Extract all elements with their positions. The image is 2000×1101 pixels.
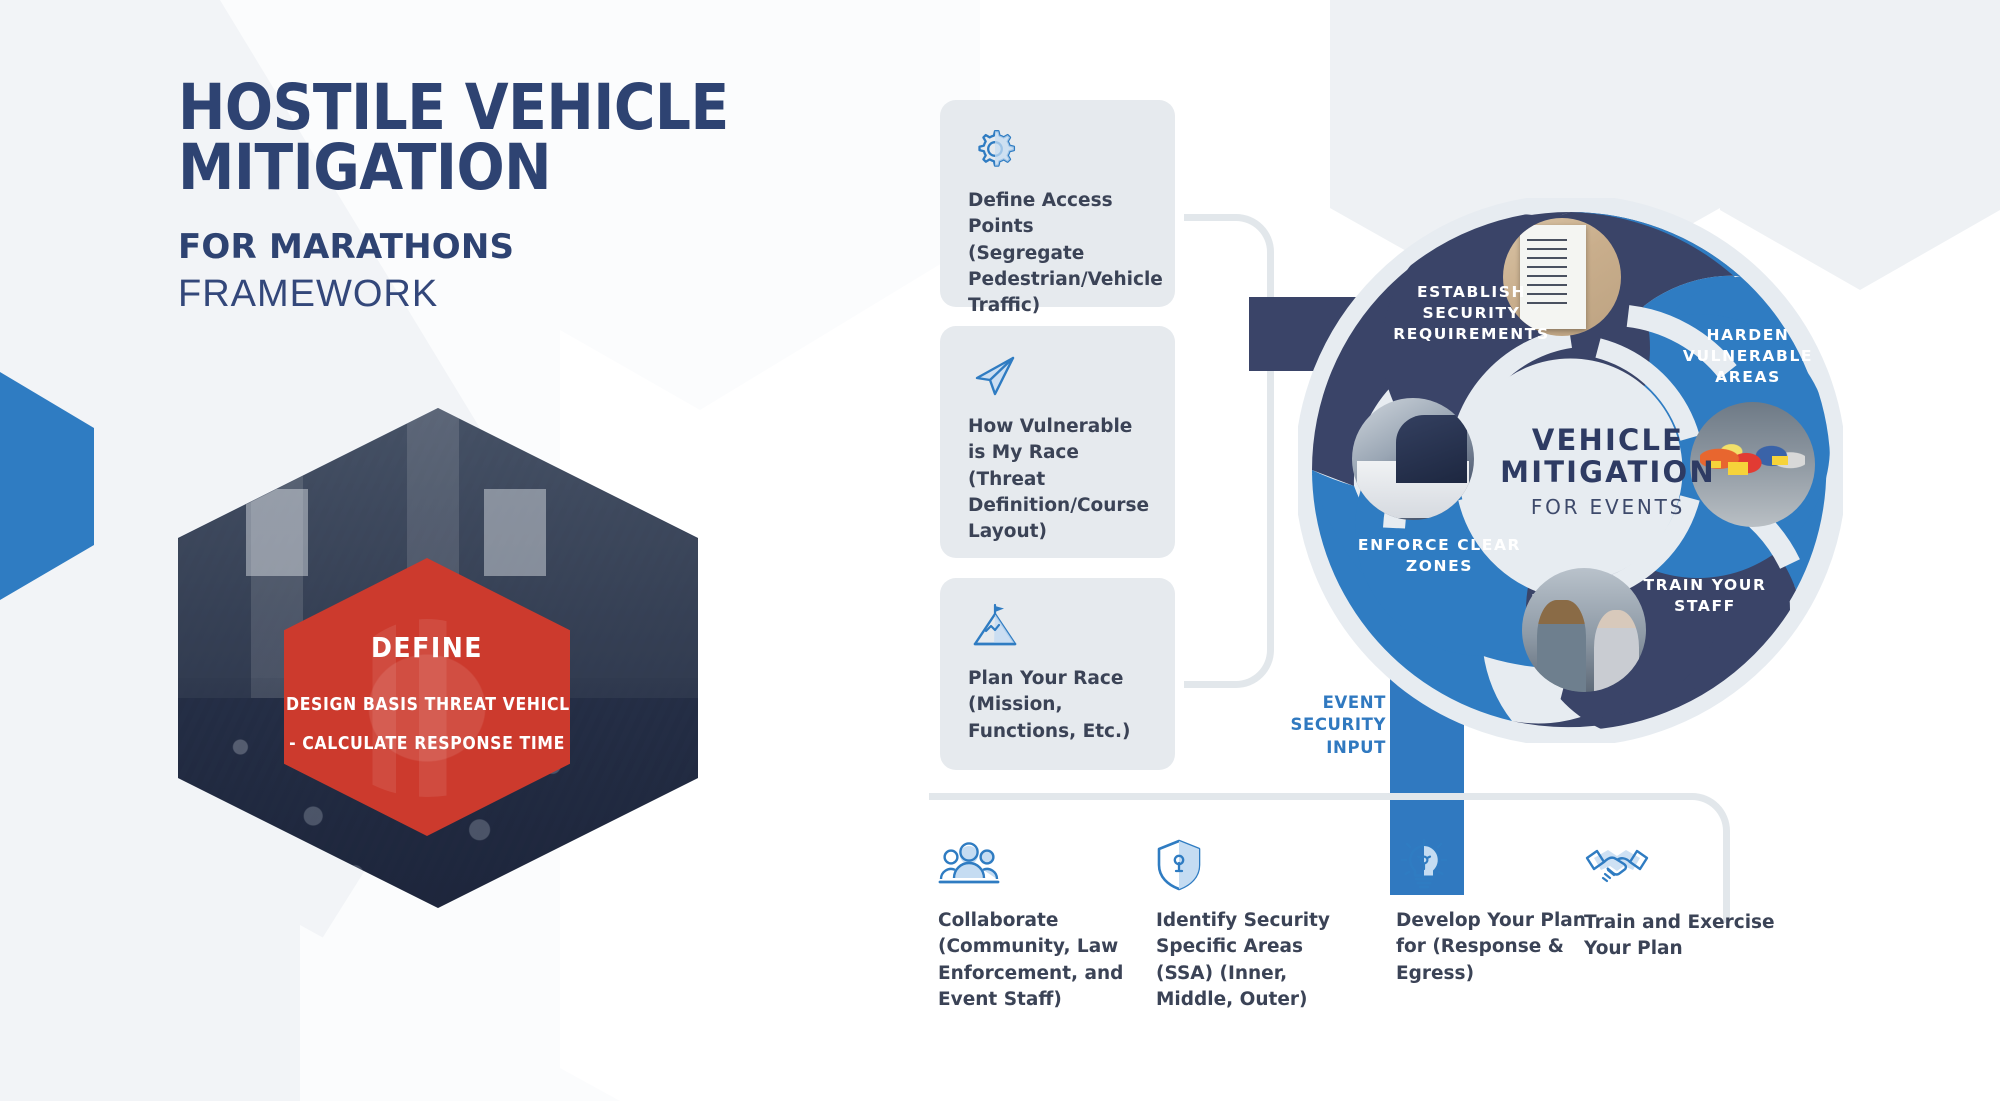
- side-card-label: Plan Your Race (Mission, Functions, Etc.…: [968, 666, 1153, 745]
- people-group-icon: [938, 838, 1143, 892]
- page-title-line2: MITIGATION: [178, 138, 898, 198]
- page-subtitle: FOR MARATHONS: [178, 227, 898, 267]
- quadrant-label-enforce: ENFORCE CLEAR ZONES: [1352, 535, 1527, 577]
- bottom-item-develop-plan[interactable]: Develop Your Plan for (Response & Egress…: [1396, 838, 1601, 987]
- lightbulb-gear-icon: [1396, 838, 1601, 892]
- side-card-vulnerability-assessment[interactable]: How Vulnerable is My Race (Threat Defini…: [940, 326, 1175, 558]
- infographic-canvas: HOSTILE VEHICLE MITIGATION FOR MARATHONS…: [0, 0, 2000, 1101]
- circle-center-text: VEHICLE MITIGATION FOR EVENTS: [1498, 424, 1718, 519]
- signing-documents-photo: [1352, 398, 1474, 520]
- mountain-flag-icon: [968, 600, 1153, 654]
- quadrant-label-establish: ESTABLISH SECURITY REQUIREMENTS: [1384, 282, 1559, 345]
- bottom-item-label: Develop Your Plan for (Response & Egress…: [1396, 908, 1601, 987]
- title-block: HOSTILE VEHICLE MITIGATION FOR MARATHONS…: [178, 78, 898, 316]
- bottom-item-label: Identify Security Specific Areas (SSA) (…: [1156, 908, 1361, 1013]
- handshake-icon: [1584, 840, 1789, 894]
- center-title-line1: VEHICLE: [1498, 424, 1718, 456]
- side-card-plan-your-race[interactable]: Plan Your Race (Mission, Functions, Etc.…: [940, 578, 1175, 770]
- page-title: HOSTILE VEHICLE MITIGATION: [178, 78, 898, 199]
- gear-icon: [968, 122, 1153, 176]
- left-cards-bracket-connector: [1184, 214, 1274, 688]
- define-title: DEFINE: [371, 631, 483, 664]
- side-card-label: Define Access Points (Segregate Pedestri…: [968, 188, 1153, 319]
- quadrant-label-train: TRAIN YOUR STAFF: [1620, 575, 1790, 617]
- define-bullet-1: - DESIGN BASIS THREAT VEHICLE: [273, 686, 581, 725]
- bottom-item-label: Collaborate (Community, Law Enforcement,…: [938, 908, 1143, 1013]
- quadrant-label-harden: HARDEN VULNERABLE AREAS: [1668, 325, 1828, 388]
- bottom-item-train-exercise[interactable]: Train and Exercise Your Plan: [1584, 840, 1789, 963]
- bottom-item-label: Train and Exercise Your Plan: [1584, 910, 1789, 963]
- side-card-label: How Vulnerable is My Race (Threat Defini…: [968, 414, 1153, 545]
- bottom-item-collaborate[interactable]: Collaborate (Community, Law Enforcement,…: [938, 838, 1143, 1013]
- framework-label: FRAMEWORK: [178, 273, 898, 316]
- define-bullet-2: - CALCULATE RESPONSE TIME: [289, 725, 565, 764]
- shield-lock-icon: [1156, 838, 1361, 892]
- side-card-define-access-points[interactable]: Define Access Points (Segregate Pedestri…: [940, 100, 1175, 307]
- bottom-item-identify-ssa[interactable]: Identify Security Specific Areas (SSA) (…: [1156, 838, 1361, 1013]
- center-title-line2: MITIGATION: [1498, 456, 1718, 488]
- event-security-input-label: EVENT SECURITY INPUT: [1268, 692, 1386, 759]
- center-subtitle: FOR EVENTS: [1498, 495, 1718, 519]
- paper-plane-icon: [968, 348, 1153, 402]
